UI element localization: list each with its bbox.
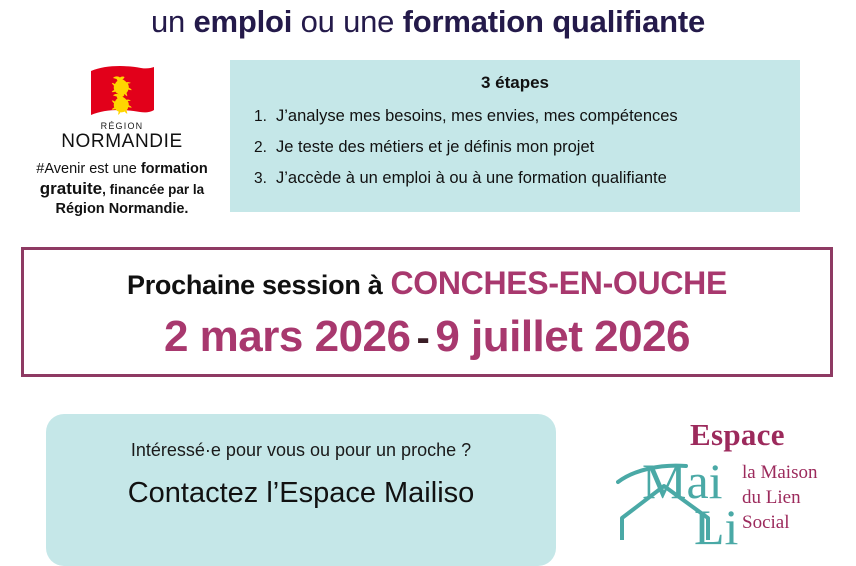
logo-li-word: Li [694, 502, 738, 552]
tagline-line-2: gratuite, financée par la [26, 179, 218, 200]
logo-espace-word: Espace [690, 418, 785, 452]
etape-number: 2. [254, 132, 276, 163]
session-label: Prochaine session à [127, 270, 382, 300]
session-city: CONCHES-EN-OUCHE [390, 265, 727, 301]
etape-text: Je teste des métiers et je définis mon p… [276, 132, 594, 163]
page-headline: un emploi ou une formation qualifiante [0, 2, 856, 42]
normandie-flag-icon [85, 64, 159, 120]
tagline-line-1-a: #Avenir est une [36, 161, 141, 177]
region-normandie-block: RÉGION NORMANDIE #Avenir est une formati… [26, 62, 218, 219]
etape-text: J’accède à un emploi à ou à une formatio… [276, 163, 667, 194]
list-item: 2. Je teste des métiers et je définis mo… [254, 132, 788, 163]
normandie-tagline: #Avenir est une formation gratuite, fina… [26, 160, 218, 219]
tagline-line-1-b: formation [141, 161, 208, 177]
etape-text: J’analyse mes besoins, mes envies, mes c… [276, 101, 678, 132]
tagline-line-2-b: , financée par la [102, 182, 204, 197]
etapes-panel: 3 étapes 1. J’analyse mes besoins, mes e… [230, 60, 800, 212]
etapes-title: 3 étapes [230, 72, 800, 94]
next-session-panel: Prochaine session àCONCHES-EN-OUCHE 2 ma… [21, 247, 833, 377]
etapes-list: 1. J’analyse mes besoins, mes envies, me… [230, 101, 800, 194]
session-dates-line: 2 mars 2026-9 juillet 2026 [24, 311, 830, 364]
headline-part-2: emploi [193, 4, 292, 39]
headline-part-1: un [151, 4, 194, 39]
session-location-line: Prochaine session àCONCHES-EN-OUCHE [24, 264, 830, 309]
logo-subtitle-line-3: Social [742, 510, 817, 535]
headline-part-4: formation qualifiante [403, 4, 705, 39]
normandie-label: NORMANDIE [26, 131, 218, 153]
session-start-date: 2 mars 2026 [164, 312, 411, 361]
contact-panel: Intéressé·e pour vous ou pour un proche … [46, 414, 556, 566]
list-item: 3. J’accède à un emploi à ou à une forma… [254, 163, 788, 194]
headline-part-3: ou une [292, 4, 402, 39]
tagline-line-1: #Avenir est une formation [26, 160, 218, 179]
list-item: 1. J’analyse mes besoins, mes envies, me… [254, 101, 788, 132]
session-end-date: 9 juillet 2026 [435, 312, 690, 361]
logo-subtitle-line-2: du Lien [742, 485, 817, 510]
tagline-line-2-a: gratuite [40, 179, 102, 198]
etape-number: 1. [254, 101, 276, 132]
logo-subtitle: la Maison du Lien Social [742, 460, 817, 535]
contact-question: Intéressé·e pour vous ou pour un proche … [46, 438, 556, 462]
etape-number: 3. [254, 163, 276, 194]
espace-mailiso-logo: Espace Mai Li la Maison du Lien Social [624, 418, 856, 538]
tagline-line-3: Région Normandie. [26, 200, 218, 219]
logo-subtitle-line-1: la Maison [742, 460, 817, 485]
contact-cta: Contactez l’Espace Mailiso [46, 474, 556, 512]
date-separator: - [416, 316, 429, 360]
